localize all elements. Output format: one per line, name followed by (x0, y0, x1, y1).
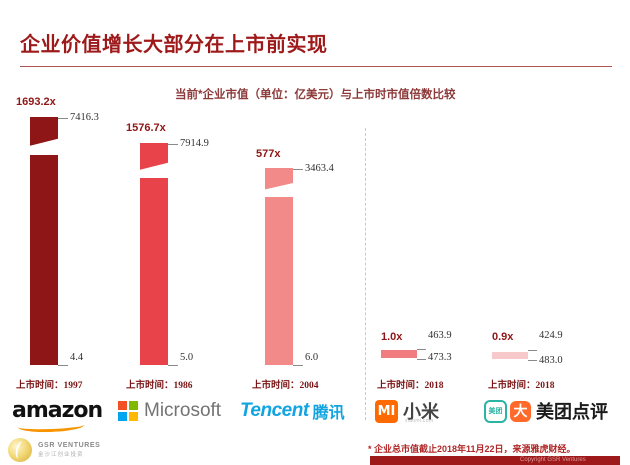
multiple-label-tencent: 577x (256, 148, 280, 160)
source-footnote: * 企业总市值截止2018年11月22日，来源雅虎财经。 (368, 442, 576, 455)
microsoft-wordmark: Microsoft (144, 400, 221, 422)
tencent-wordmark: Tencent (240, 400, 309, 422)
ipo-label-amazon: 上市时间： (16, 380, 64, 391)
tick-bottom-tencent (293, 365, 303, 366)
value-top-xiaomi: 463.9 (428, 330, 452, 341)
tick-top-xiaomi (417, 349, 426, 350)
multiple-label-xiaomi: 1.0x (381, 331, 402, 343)
ipo-xiaomi: 上市时间：2018 (377, 377, 444, 391)
microsoft-squares-icon (118, 401, 138, 421)
bar-top-xiaomi (381, 350, 417, 358)
multiple-label-meituan: 0.9x (492, 331, 513, 343)
value-bottom-xiaomi: 473.3 (428, 352, 452, 363)
meituan-teal-icon: 美团 (484, 400, 507, 423)
multiple-label-microsoft: 1576.7x (126, 122, 166, 134)
bar-top-meituan (492, 352, 528, 359)
gsr-ventures-logo: GSR VENTURES 金沙江创业投资 (8, 438, 100, 462)
tick-bottom-meituan (528, 360, 537, 361)
tick-bottom-xiaomi (417, 359, 426, 360)
logo-xiaomi: MI 小米 xiaomi.com (375, 398, 439, 424)
tick-top-tencent (293, 169, 303, 170)
xiaomi-url-label: xiaomi.com (405, 418, 433, 424)
chart-plot-area: 1693.2x 7416.3 4.4 上市时间：1997 1576.7x 791… (0, 0, 630, 465)
logo-amazon: amazon (12, 398, 102, 424)
tick-top-microsoft (168, 144, 178, 145)
gsr-brand-name-cn: 金沙江创业投资 (38, 450, 100, 458)
ipo-label-meituan: 上市时间： (488, 380, 536, 391)
logo-microsoft: Microsoft (118, 398, 221, 424)
footer-copyright: Copyright GSR Ventures (520, 457, 586, 463)
value-bottom-meituan: 483.0 (539, 355, 563, 366)
value-bottom-amazon: 4.4 (70, 352, 83, 363)
microsoft-square-yellow (129, 412, 138, 421)
xiaomi-mi-icon: MI (375, 400, 398, 423)
ipo-meituan: 上市时间：2018 (488, 377, 555, 391)
ipo-year-microsoft: 1986 (174, 381, 193, 391)
value-top-microsoft: 7914.9 (180, 138, 209, 149)
value-top-meituan: 424.9 (539, 330, 563, 341)
meituan-wordmark: 美团点评 (536, 398, 608, 424)
microsoft-square-red (118, 401, 127, 410)
value-bottom-microsoft: 5.0 (180, 352, 193, 363)
value-top-amazon: 7416.3 (70, 112, 99, 123)
ipo-label-xiaomi: 上市时间： (377, 380, 425, 391)
ipo-microsoft: 上市时间：1986 (126, 377, 193, 391)
bar-bottom-tencent (265, 197, 293, 365)
tick-bottom-microsoft (168, 365, 178, 366)
ipo-year-xiaomi: 2018 (425, 381, 444, 391)
tencent-wordmark-cn: 腾讯 (313, 399, 345, 423)
ipo-label-tencent: 上市时间： (252, 380, 300, 391)
section-divider-dashed (365, 128, 366, 420)
value-top-tencent: 3463.4 (305, 163, 334, 174)
meituan-person-glyph: 大 (514, 404, 528, 418)
microsoft-square-green (129, 401, 138, 410)
ipo-tencent: 上市时间：2004 (252, 377, 319, 391)
value-bottom-tencent: 6.0 (305, 352, 318, 363)
meituan-orange-icon: 大 (510, 401, 531, 422)
gsr-mark-icon (8, 438, 32, 462)
gsr-brand-name: GSR VENTURES (38, 442, 100, 451)
ipo-year-tencent: 2004 (300, 381, 319, 391)
ipo-year-amazon: 1997 (64, 381, 83, 391)
multiple-label-amazon: 1693.2x (16, 96, 56, 108)
tick-bottom-amazon (58, 365, 68, 366)
ipo-year-meituan: 2018 (536, 381, 555, 391)
ipo-amazon: 上市时间：1997 (16, 377, 83, 391)
tick-top-meituan (528, 350, 537, 351)
tick-top-amazon (58, 118, 68, 119)
logo-meituan: 美团 大 美团点评 (484, 398, 608, 424)
bar-bottom-amazon (30, 155, 58, 365)
logo-tencent: Tencent 腾讯 (240, 398, 345, 424)
ipo-label-microsoft: 上市时间： (126, 380, 174, 391)
slide-canvas: 企业价值增长大部分在上市前实现 当前*企业市值（单位：亿美元）与上市时市值倍数比… (0, 0, 630, 465)
bar-bottom-microsoft (140, 178, 168, 365)
microsoft-square-blue (118, 412, 127, 421)
amazon-wordmark: amazon (12, 400, 102, 422)
